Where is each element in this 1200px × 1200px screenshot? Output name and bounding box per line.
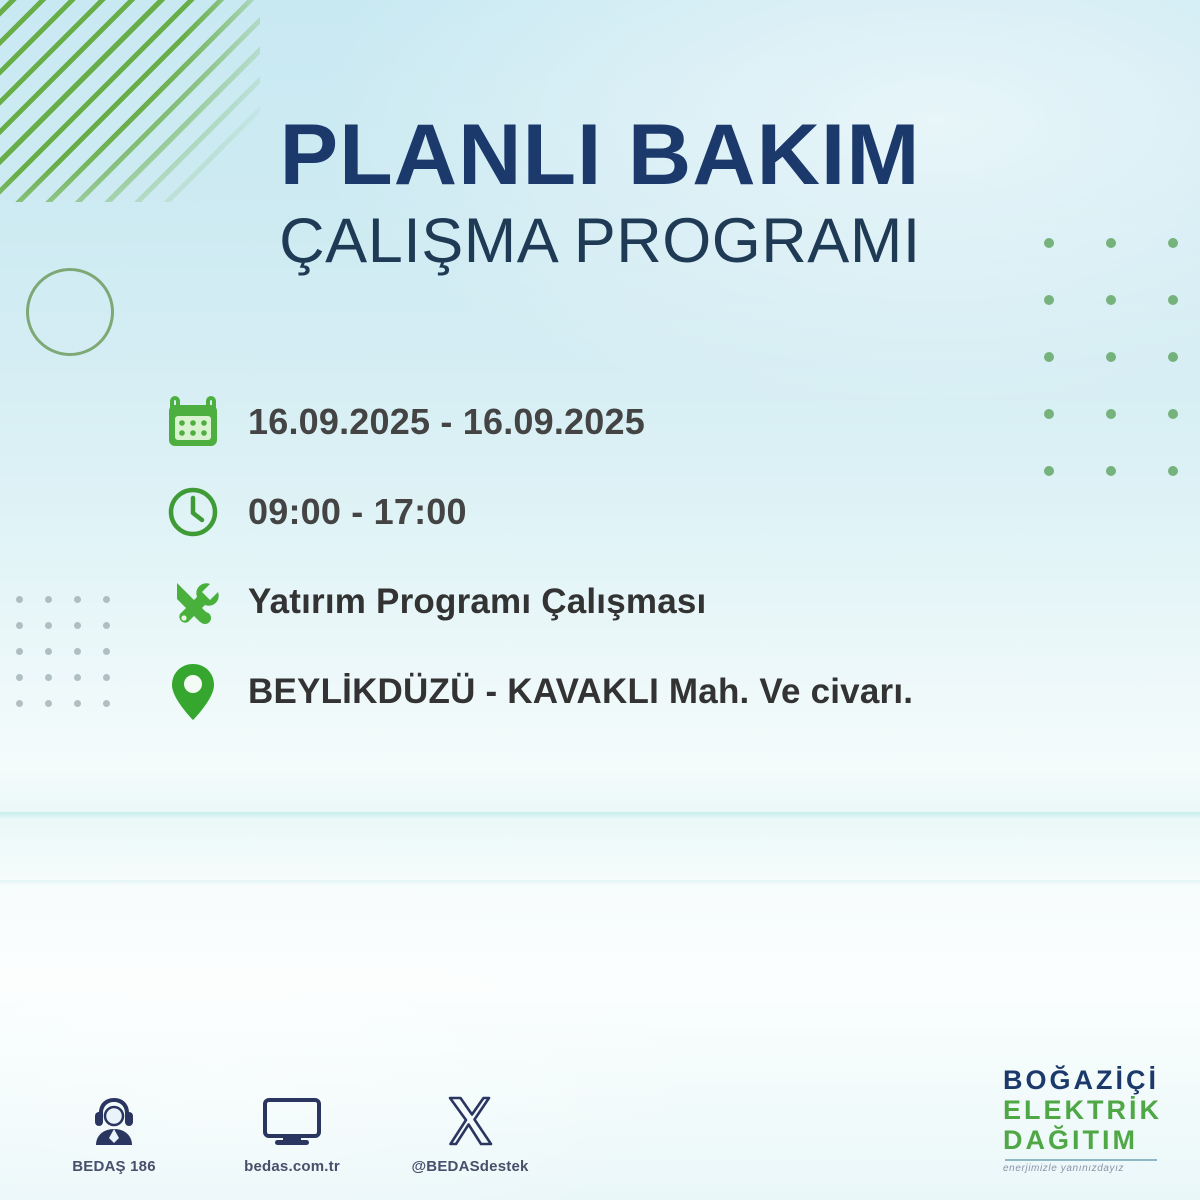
brand-logo-line3: DAĞITIM bbox=[1003, 1127, 1162, 1154]
footer-item-callcenter-label: BEDAŞ 186 bbox=[72, 1158, 156, 1175]
info-row-date: 16.09.2025 - 16.09.2025 bbox=[162, 385, 1102, 459]
info-row-date-label: 16.09.2025 - 16.09.2025 bbox=[248, 401, 645, 443]
support-agent-icon bbox=[54, 1090, 174, 1148]
background-band-upper bbox=[0, 812, 1200, 819]
footer-item-website-label: bedas.com.tr bbox=[244, 1158, 340, 1175]
brand-logo-line2: ELEKTRİK bbox=[1003, 1097, 1162, 1124]
page-title: PLANLI BAKIM bbox=[0, 112, 1200, 200]
monitor-icon bbox=[232, 1090, 352, 1148]
brand-logo-tagline: enerjimizle yanınızdayız bbox=[1003, 1164, 1162, 1174]
info-row-location: BEYLİKDÜZÜ - KAVAKLI Mah. Ve civarı. bbox=[162, 655, 1102, 729]
footer-item-social-label: @BEDASdestek bbox=[411, 1158, 528, 1175]
info-row-time-label: 09:00 - 17:00 bbox=[248, 491, 467, 533]
footer-item-website[interactable]: bedas.com.tr bbox=[232, 1090, 352, 1176]
location-pin-icon bbox=[162, 661, 224, 723]
info-row-work-type-label: Yatırım Programı Çalışması bbox=[248, 582, 706, 622]
clock-icon bbox=[162, 481, 224, 543]
x-social-icon bbox=[410, 1090, 530, 1148]
brand-logo-divider bbox=[1005, 1159, 1157, 1161]
footer-item-social[interactable]: @BEDASdestek bbox=[410, 1090, 530, 1176]
background-band-lower bbox=[0, 880, 1200, 885]
info-list: 16.09.2025 - 16.09.2025 09:00 - 17:00 bbox=[162, 385, 1102, 729]
tools-icon bbox=[162, 571, 224, 633]
info-row-location-label: BEYLİKDÜZÜ - KAVAKLI Mah. Ve civarı. bbox=[248, 672, 913, 712]
footer-contacts: BEDAŞ 186 bedas.com.tr @BEDASdestek bbox=[54, 1090, 530, 1176]
info-row-work-type: Yatırım Programı Çalışması bbox=[162, 565, 1102, 639]
calendar-icon bbox=[162, 391, 224, 453]
brand-logo: BOĞAZİÇİ ELEKTRİK DAĞITIM enerjimizle ya… bbox=[1003, 1067, 1162, 1174]
page-subtitle: ÇALIŞMA PROGRAMI bbox=[0, 208, 1200, 274]
poster-canvas: PLANLI BAKIM ÇALIŞMA PROGRAMI 16.09.2025… bbox=[0, 0, 1200, 1200]
title-block: PLANLI BAKIM ÇALIŞMA PROGRAMI bbox=[0, 112, 1200, 274]
footer-item-callcenter[interactable]: BEDAŞ 186 bbox=[54, 1090, 174, 1176]
brand-logo-line1: BOĞAZİÇİ bbox=[1003, 1067, 1162, 1094]
circle-outline-decoration bbox=[26, 268, 114, 356]
info-row-time: 09:00 - 17:00 bbox=[162, 475, 1102, 549]
dot-grid-left-decoration bbox=[16, 596, 110, 707]
